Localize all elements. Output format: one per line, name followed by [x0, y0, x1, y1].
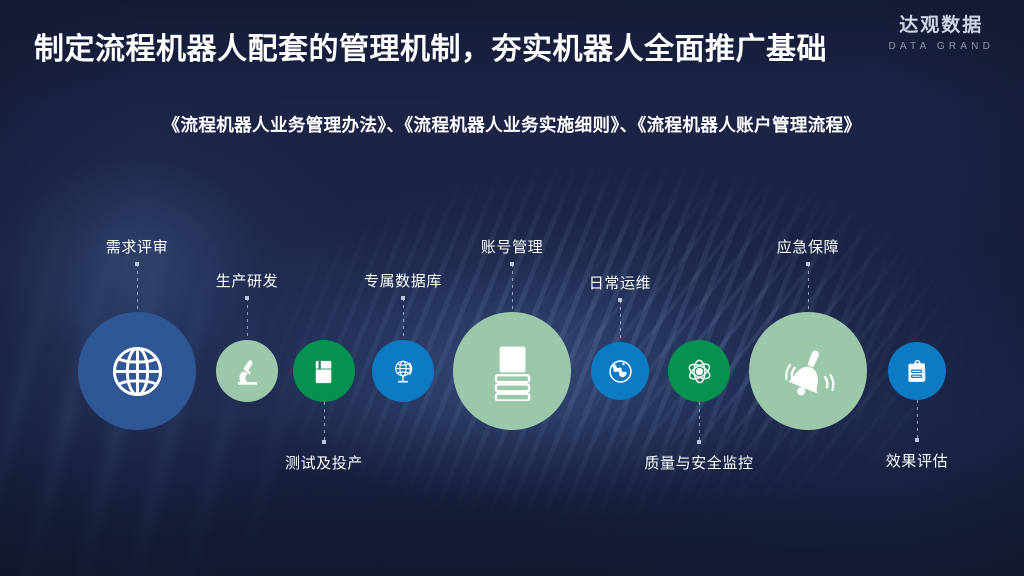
brand-logo-cn: 达观数据: [888, 14, 994, 38]
brand-logo-en: DATA GRAND: [888, 41, 994, 52]
flow-connector-dot: [510, 262, 514, 266]
flow-connector-line: [699, 402, 700, 442]
atom-icon: [684, 356, 715, 387]
clipboard-icon: [903, 357, 932, 386]
microscope-icon: [232, 356, 263, 387]
slide-title: 制定流程机器人配套的管理机制，夯实机器人全面推广基础: [34, 24, 827, 68]
flow-connector-dot: [245, 296, 249, 300]
flow-connector-dot: [401, 296, 405, 300]
flow-node-label: 账号管理: [412, 236, 612, 257]
flow-node-bubble[interactable]: [78, 312, 196, 430]
flow-connector-dot: [135, 262, 139, 266]
flow-node-bubble[interactable]: [293, 340, 355, 402]
slide-canvas: 制定流程机器人配套的管理机制，夯实机器人全面推广基础 达观数据 DATA GRA…: [0, 0, 1024, 576]
flow-connector-line: [137, 264, 138, 312]
flow-connector-line: [620, 300, 621, 342]
slide-subtitle: 《流程机器人业务管理办法》、《流程机器人业务实施细则》、《流程机器人账户管理流程…: [0, 112, 1024, 137]
flow-node-bubble[interactable]: [453, 312, 571, 430]
flow-node-label: 日常运维: [520, 272, 720, 293]
flow-connector-line: [247, 298, 248, 340]
flow-connector-dot: [322, 440, 326, 444]
flow-connector-dot: [618, 298, 622, 302]
book-icon: [309, 356, 340, 387]
flow-connector-line: [512, 264, 513, 312]
flow-node-label: 专属数据库: [303, 270, 503, 291]
flow-node-label: 质量与安全监控: [599, 452, 799, 473]
flow-node-label: 应急保障: [708, 236, 908, 257]
brand-logo: 达观数据 DATA GRAND: [888, 14, 994, 52]
flow-node-bubble[interactable]: [372, 340, 434, 402]
world-globe-icon: [606, 357, 635, 386]
hand-bell-icon: [779, 342, 838, 401]
flow-node-bubble[interactable]: [591, 342, 649, 400]
globe-grid-icon: [108, 342, 167, 401]
server-stack-icon: [483, 342, 542, 401]
flow-node-bubble[interactable]: [749, 312, 867, 430]
flow-connector-line: [808, 264, 809, 312]
globe-stand-icon: [388, 356, 419, 387]
flow-connector-line: [324, 402, 325, 442]
flow-node-bubble[interactable]: [888, 342, 946, 400]
flow-node-bubble[interactable]: [216, 340, 278, 402]
flow-connector-line: [403, 298, 404, 340]
flow-connector-dot: [697, 440, 701, 444]
flow-node-label: 需求评审: [37, 236, 237, 257]
flow-connector-dot: [915, 438, 919, 442]
flow-connector-dot: [806, 262, 810, 266]
flow-node-label: 效果评估: [817, 450, 1017, 471]
flow-connector-line: [917, 400, 918, 440]
flow-node-bubble[interactable]: [668, 340, 730, 402]
flow-node-label: 测试及投产: [224, 452, 424, 473]
